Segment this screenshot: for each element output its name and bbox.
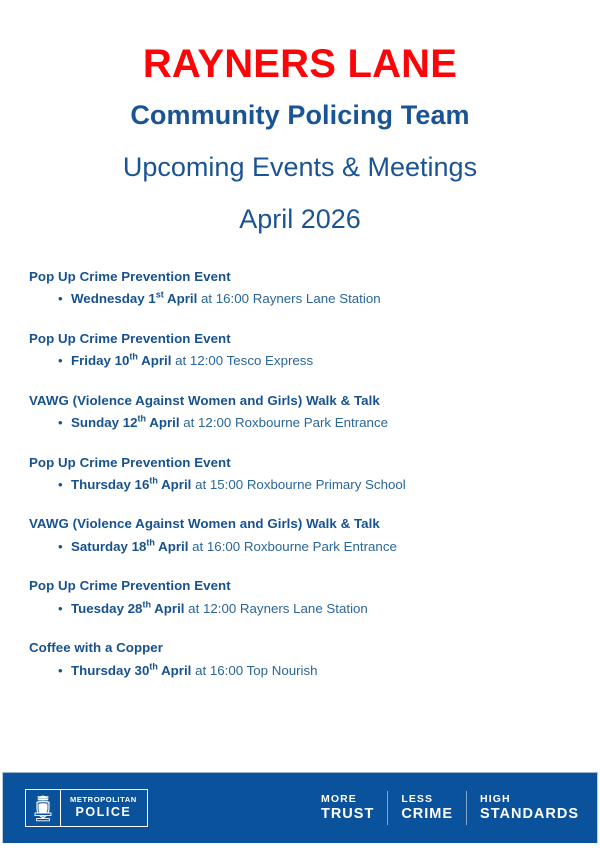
event-date-ordinal: th [142, 599, 151, 609]
event-date: Tuesday 28th April [71, 601, 184, 616]
event-time-location: at 12:00 Roxbourne Park Entrance [180, 415, 388, 430]
bullet-icon: • [58, 352, 71, 369]
event-date-month: April [155, 539, 189, 554]
event-detail: •Saturday 18th April at 16:00 Roxbourne … [29, 538, 600, 555]
page-month-title: April 2026 [0, 205, 600, 233]
page-section-title: Upcoming Events & Meetings [0, 153, 600, 181]
event-name: Coffee with a Copper [29, 640, 600, 657]
list-item: VAWG (Violence Against Women and Girls) … [29, 516, 600, 555]
royal-crest-icon [26, 790, 61, 826]
page-title: RAYNERS LANE [0, 44, 600, 85]
bullet-icon: • [58, 414, 71, 431]
event-detail: •Wednesday 1st April at 16:00 Rayners La… [29, 290, 600, 307]
list-item: Pop Up Crime Prevention Event •Thursday … [29, 455, 600, 494]
event-detail: •Thursday 30th April at 16:00 Top Nouris… [29, 662, 600, 679]
event-date-ordinal: th [146, 538, 155, 548]
event-date: Saturday 18th April [71, 539, 188, 554]
tagline-bottom-line: CRIME [401, 806, 453, 823]
metropolitan-police-logo: METROPOLITAN POLICE [25, 789, 148, 827]
event-date-text: Thursday 16 [71, 477, 149, 492]
event-date-ordinal: th [129, 352, 138, 362]
event-date-ordinal: st [156, 290, 164, 300]
event-date-text: Friday 10 [71, 353, 129, 368]
logo-line-metropolitan: METROPOLITAN [70, 796, 137, 805]
event-date-text: Saturday 18 [71, 539, 146, 554]
footer-band: METROPOLITAN POLICE MORE TRUST LESS CRIM… [2, 772, 598, 843]
event-name: VAWG (Violence Against Women and Girls) … [29, 516, 600, 533]
event-time-location: at 16:00 Roxbourne Park Entrance [188, 539, 396, 554]
event-time-location: at 16:00 Rayners Lane Station [197, 291, 380, 306]
event-date-ordinal: th [149, 476, 158, 486]
event-time-location: at 16:00 Top Nourish [191, 663, 317, 678]
event-time-location: at 12:00 Rayners Lane Station [184, 601, 367, 616]
event-time-location: at 15:00 Roxbourne Primary School [191, 477, 405, 492]
bullet-icon: • [58, 662, 71, 679]
tagline-bottom-line: STANDARDS [480, 806, 579, 823]
event-date-text: Wednesday 1 [71, 291, 156, 306]
event-date-text: Tuesday 28 [71, 601, 142, 616]
event-date: Thursday 30th April [71, 663, 191, 678]
bullet-icon: • [58, 290, 71, 307]
tagline-less-crime: LESS CRIME [387, 791, 466, 825]
bullet-icon: • [58, 600, 71, 617]
bullet-icon: • [58, 476, 71, 493]
event-name: Pop Up Crime Prevention Event [29, 455, 600, 472]
metropolitan-police-wordmark: METROPOLITAN POLICE [61, 790, 147, 826]
footer-taglines: MORE TRUST LESS CRIME HIGH STANDARDS [321, 791, 579, 825]
event-date-ordinal: th [149, 661, 158, 671]
event-date-month: April [158, 477, 192, 492]
event-name: VAWG (Violence Against Women and Girls) … [29, 393, 600, 410]
event-date: Friday 10th April [71, 353, 171, 368]
event-date-ordinal: th [138, 414, 147, 424]
event-date-month: April [151, 601, 185, 616]
list-item: Pop Up Crime Prevention Event •Wednesday… [29, 269, 600, 308]
poster-page: RAYNERS LANE Community Policing Team Upc… [0, 0, 600, 848]
event-name: Pop Up Crime Prevention Event [29, 578, 600, 595]
event-date-text: Thursday 30 [71, 663, 149, 678]
event-date-month: April [138, 353, 172, 368]
tagline-top-line: HIGH [480, 793, 579, 806]
list-item: Coffee with a Copper •Thursday 30th Apri… [29, 640, 600, 679]
event-time-location: at 12:00 Tesco Express [171, 353, 313, 368]
event-date-month: April [146, 415, 180, 430]
event-date: Wednesday 1st April [71, 291, 197, 306]
event-date: Sunday 12th April [71, 415, 180, 430]
tagline-top-line: LESS [401, 793, 453, 806]
tagline-high-standards: HIGH STANDARDS [466, 791, 579, 825]
event-detail: •Thursday 16th April at 15:00 Roxbourne … [29, 476, 600, 493]
event-detail: •Tuesday 28th April at 12:00 Rayners Lan… [29, 600, 600, 617]
page-subtitle: Community Policing Team [0, 101, 600, 129]
list-item: Pop Up Crime Prevention Event •Friday 10… [29, 331, 600, 370]
bullet-icon: • [58, 538, 71, 555]
events-list: Pop Up Crime Prevention Event •Wednesday… [0, 269, 600, 679]
event-name: Pop Up Crime Prevention Event [29, 269, 600, 286]
tagline-top-line: MORE [321, 793, 374, 806]
event-detail: •Sunday 12th April at 12:00 Roxbourne Pa… [29, 414, 600, 431]
tagline-more-trust: MORE TRUST [321, 791, 387, 825]
tagline-bottom-line: TRUST [321, 806, 374, 823]
event-date: Thursday 16th April [71, 477, 191, 492]
list-item: VAWG (Violence Against Women and Girls) … [29, 393, 600, 432]
poster-header: RAYNERS LANE Community Policing Team Upc… [0, 0, 600, 234]
event-date-text: Sunday 12 [71, 415, 138, 430]
event-date-month: April [158, 663, 192, 678]
event-detail: •Friday 10th April at 12:00 Tesco Expres… [29, 352, 600, 369]
logo-line-police: POLICE [75, 805, 131, 819]
list-item: Pop Up Crime Prevention Event •Tuesday 2… [29, 578, 600, 617]
event-date-month: April [164, 291, 198, 306]
event-name: Pop Up Crime Prevention Event [29, 331, 600, 348]
